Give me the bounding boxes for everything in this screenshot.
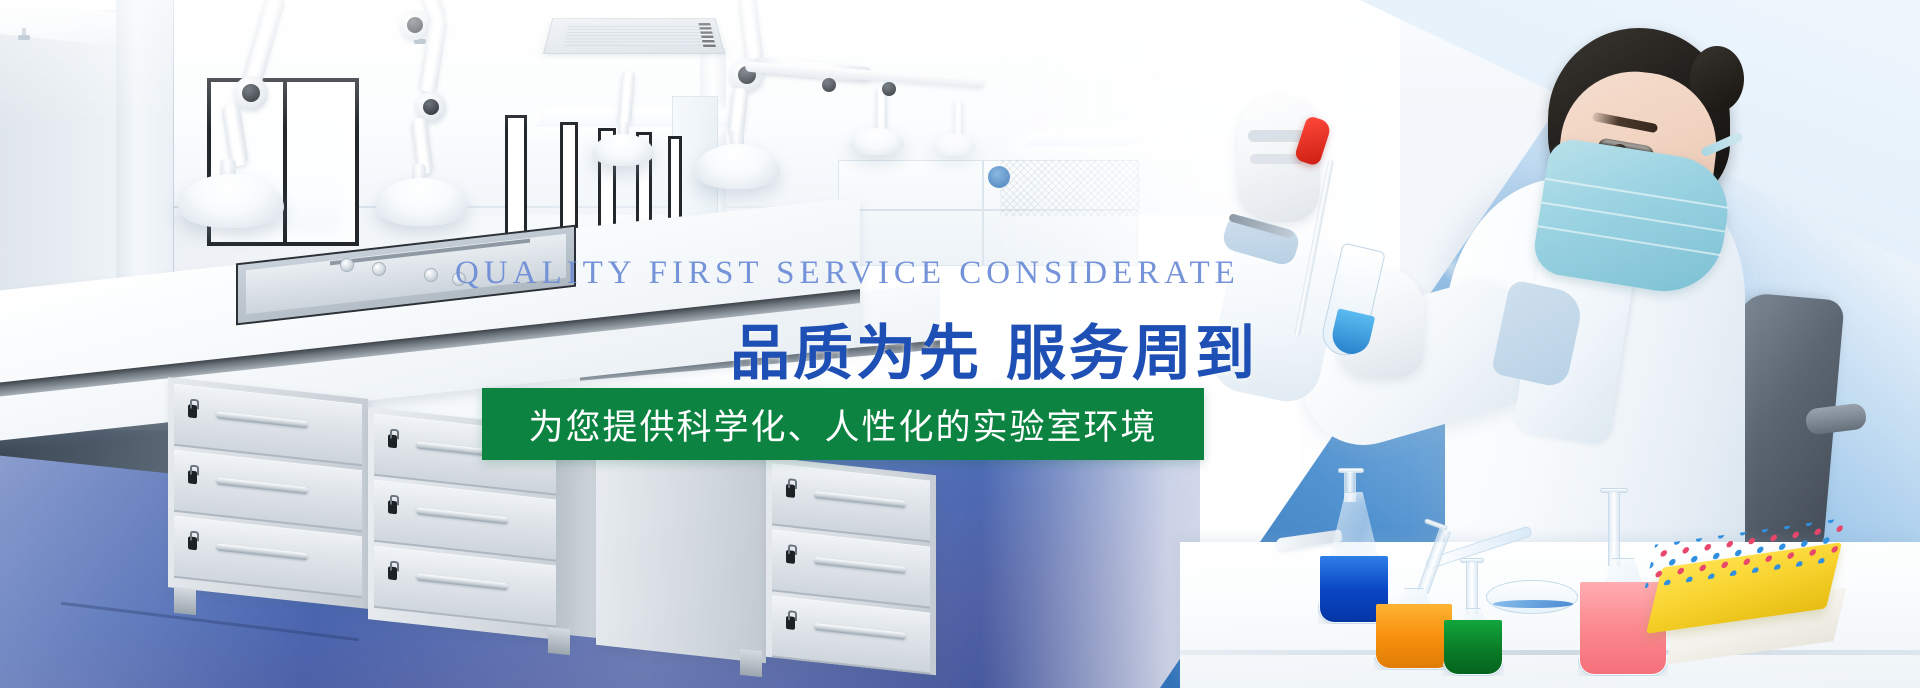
lab-hero-banner: QUALITY FIRST SERVICE CONSIDERATE 品质为先 服…	[0, 0, 1920, 688]
subtitle-bar: 为您提供科学化、人性化的实验室环境	[482, 388, 1204, 460]
text-overlay: QUALITY FIRST SERVICE CONSIDERATE 品质为先 服…	[0, 0, 1920, 688]
headline: 品质为先 服务周到	[730, 305, 1258, 392]
english-tagline: QUALITY FIRST SERVICE CONSIDERATE	[455, 255, 1240, 292]
subtitle-bar-text: 为您提供科学化、人性化的实验室环境	[528, 399, 1157, 450]
